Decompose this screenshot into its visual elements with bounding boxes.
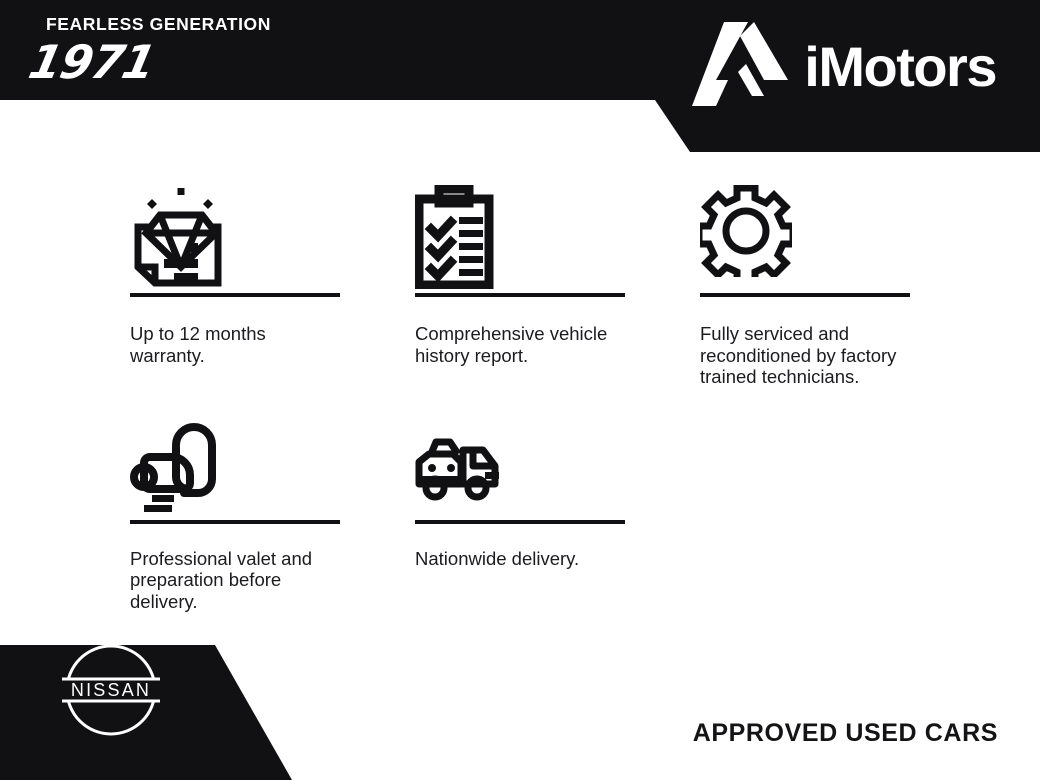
feature-row: Professional valet and preparation befor… [130,415,930,613]
feature-grid: Up to 12 months warranty. [130,185,930,612]
feature-warranty: Up to 12 months warranty. [130,185,340,388]
feature-row: Up to 12 months warranty. [130,185,930,388]
feature-caption: Fully serviced and reconditioned by fact… [700,323,900,388]
header-year-wrap: 1971 [30,39,360,85]
divider [130,293,340,297]
header-year: 1971 [25,39,159,85]
divider [415,293,625,297]
footer-tagline: APPROVED USED CARS [693,719,998,748]
brand-left-block: FEARLESS GENERATION 1971 [30,16,360,85]
feature-caption: Nationwide delivery. [415,548,615,570]
gear-cog-icon [700,185,910,293]
feature-caption: Professional valet and preparation befor… [130,548,330,613]
warranty-certificate-diamond-icon [130,185,340,293]
brand-name: iMotors [804,39,996,95]
feature-servicing: Fully serviced and reconditioned by fact… [700,185,910,388]
clipboard-checklist-icon [415,185,625,293]
brand-logo[interactable]: iMotors [692,22,996,111]
nissan-wordmark: NISSAN [71,680,151,700]
divider [130,520,340,524]
header-tagline: FEARLESS GENERATION [46,16,360,34]
vacuum-cleaner-icon [130,415,340,520]
feature-delivery: Nationwide delivery. [415,415,625,613]
feature-caption: Up to 12 months warranty. [130,323,330,366]
divider [415,520,625,524]
car-transporter-truck-icon [415,415,625,520]
divider [700,293,910,297]
feature-history-report: Comprehensive vehicle history report. [415,185,625,388]
feature-caption: Comprehensive vehicle history report. [415,323,615,366]
imotors-chevron-icon [692,22,788,111]
nissan-logo[interactable]: NISSAN [58,637,164,748]
feature-valet: Professional valet and preparation befor… [130,415,340,613]
